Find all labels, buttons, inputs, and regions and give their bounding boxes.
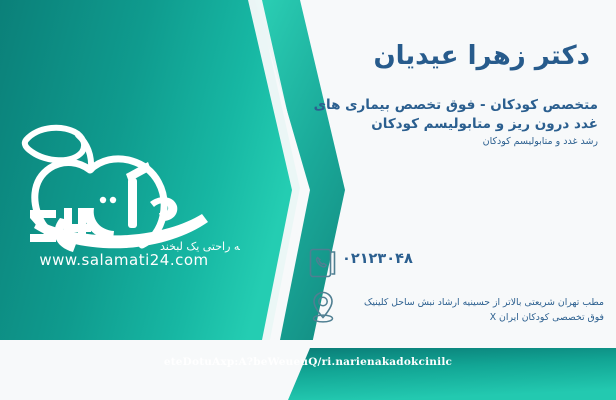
banner-url[interactable]: eteDotuAxp:A?beWeueuQ/ri.narienakadokcin… [0,356,616,368]
specialty-line-1: متخصص کودکان - فوق تخصص بیماری های [302,96,598,115]
logo-website: www.salamati24.com [39,251,208,269]
phone-number[interactable]: ۰۲۱۲۳۰۴۸ [340,251,604,267]
address-line-1: مطب تهران شریعتی بالاتر از حسینیه ارشاد … [340,295,604,310]
bottom-banner: eteDotuAxp:A?beWeueuQ/ri.narienakadokcin… [0,340,616,400]
address-line-2: فوق تخصصی کودکان ایران X [340,310,604,325]
salamati24-logo: به راحتی یک لبخند www.salamati24.com [8,104,240,270]
doctor-specialty-block: متخصص کودکان - فوق تخصص بیماری های غدد د… [302,96,598,150]
specialty-line-3: رشد غدد و متابولیسم کودکان [302,135,598,149]
business-card: به راحتی یک لبخند www.salamati24.com دکت… [0,0,616,400]
contact-block: ۰۲۱۲۳۰۴۸ مطب تهران شریعتی بالاتر از حسین… [298,246,604,336]
specialty-line-2: غدد درون ریز و متابولیسم کودکان [302,115,598,134]
map-pin-icon [306,290,340,324]
phonebook-icon [306,246,340,280]
phone-row: ۰۲۱۲۳۰۴۸ [298,246,604,280]
address-text: مطب تهران شریعتی بالاتر از حسینیه ارشاد … [340,295,604,326]
doctor-name: دکتر زهرا عیدیان [304,40,590,73]
address-row: مطب تهران شریعتی بالاتر از حسینیه ارشاد … [298,290,604,326]
